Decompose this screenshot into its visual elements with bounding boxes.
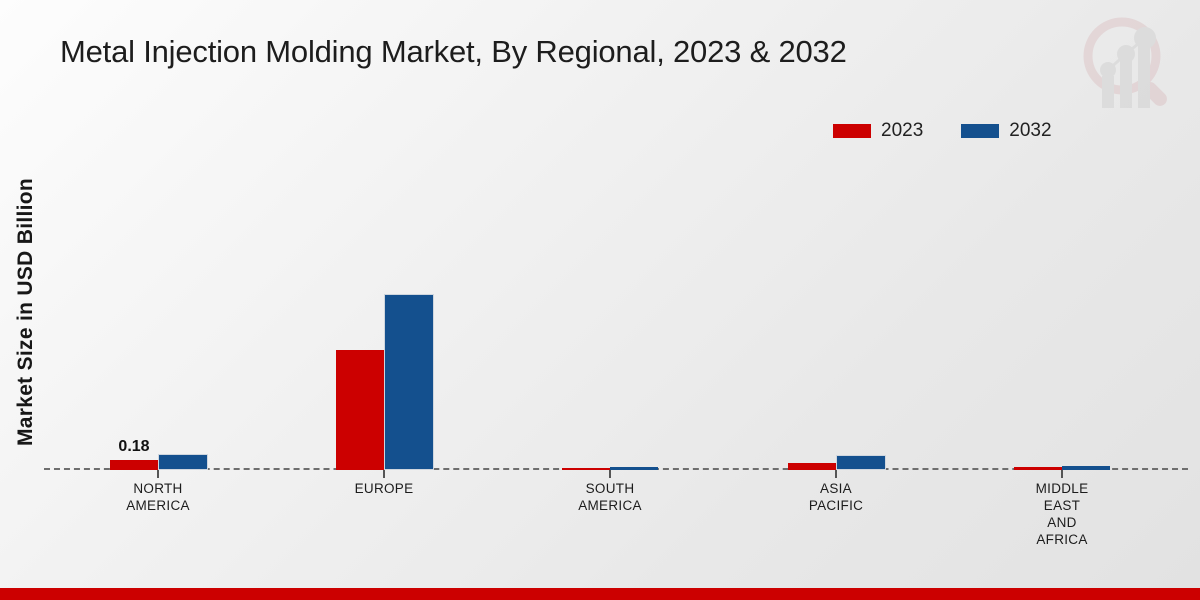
watermark-logo-icon [1072,8,1182,118]
bar-group-north-america: 0.18 NORTH AMERICA [110,150,206,470]
category-label-line: MIDDLE [982,480,1142,497]
category-label-line: NORTH [78,480,238,497]
bar-2023-europe[interactable] [336,350,384,470]
legend-item-2032[interactable]: 2032 [961,120,1051,142]
legend-swatch-2023 [833,124,871,138]
bar-group-europe: EUROPE [336,150,432,470]
category-label-north-america: NORTH AMERICA [78,480,238,514]
category-label-line: AMERICA [530,497,690,514]
bar-2032-south-america[interactable] [610,467,658,470]
chart-figure: Metal Injection Molding Market, By Regio… [0,0,1200,600]
legend-label-2032: 2032 [1009,120,1051,142]
legend-swatch-2032 [961,124,999,138]
category-label-line: PACIFIC [756,497,916,514]
axis-tick-north-america [157,470,159,478]
category-label-europe: EUROPE [304,480,464,497]
bar-2023-south-america[interactable] [562,468,610,470]
chart-legend: 2023 2032 [833,120,1052,142]
chart-title: Metal Injection Molding Market, By Regio… [60,34,847,70]
footer-accent-bar [0,588,1200,600]
category-label-south-america: SOUTH AMERICA [530,480,690,514]
category-label-line: AMERICA [78,497,238,514]
bar-2023-middle-east-and-africa[interactable] [1014,467,1062,470]
y-axis-title: Market Size in USD Billion [14,147,38,477]
legend-item-2023[interactable]: 2023 [833,120,923,142]
category-label-asia-pacific: ASIA PACIFIC [756,480,916,514]
bar-group-south-america: SOUTH AMERICA [562,150,658,470]
category-label-line: ASIA [756,480,916,497]
bar-2032-north-america[interactable] [158,454,208,470]
category-label-middle-east-and-africa: MIDDLE EAST AND AFRICA [982,480,1142,548]
category-label-line: EUROPE [304,480,464,497]
axis-tick-europe [383,470,385,478]
axis-tick-asia-pacific [835,470,837,478]
bar-2032-europe[interactable] [384,294,434,470]
bar-2023-asia-pacific[interactable] [788,463,836,470]
bar-group-asia-pacific: ASIA PACIFIC [788,150,884,470]
legend-label-2023: 2023 [881,120,923,142]
category-label-line: AFRICA [982,531,1142,548]
plot-area: 0.18 NORTH AMERICA EUROPE SOUTH AMERICA [44,150,1188,470]
bar-group-middle-east-and-africa: MIDDLE EAST AND AFRICA [1014,150,1110,470]
axis-tick-south-america [609,470,611,478]
category-label-line: AND [982,514,1142,531]
bar-2032-middle-east-and-africa[interactable] [1062,466,1110,470]
bar-2023-north-america[interactable] [110,460,158,470]
category-label-line: EAST [982,497,1142,514]
bar-2032-asia-pacific[interactable] [836,455,886,470]
category-label-line: SOUTH [530,480,690,497]
axis-tick-middle-east-and-africa [1061,470,1063,478]
bar-value-label-north-america-2023: 0.18 [106,438,162,456]
